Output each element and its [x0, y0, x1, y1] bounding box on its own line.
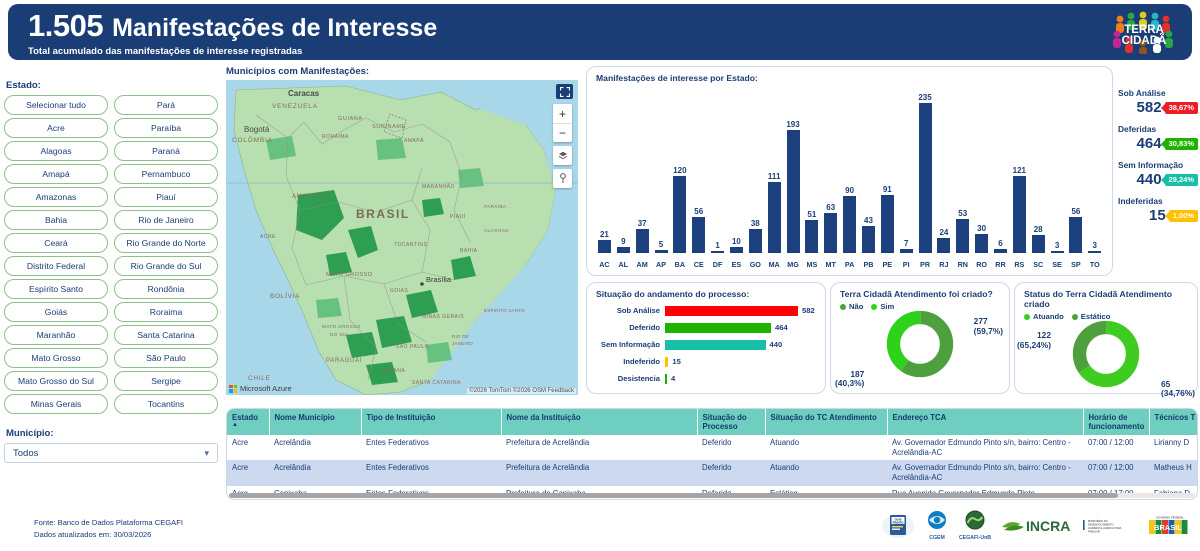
bar-category-label: MT	[821, 260, 840, 269]
kpi-percent-badge: 38,67%	[1165, 102, 1198, 114]
table-cell-endereco: Av. Governador Edmundo Pinto s/n, bairro…	[887, 460, 1083, 485]
bar-chart-bars: 2193751205611038111193516390439172352453…	[595, 91, 1104, 253]
bar-column[interactable]: 193	[784, 91, 803, 253]
state-filter-button[interactable]: Amazonas	[4, 187, 108, 207]
svg-text:AMAPÁ: AMAPÁ	[404, 137, 424, 144]
bar-rect	[655, 250, 668, 253]
tca-status-percent-atuando: 65,24%	[1020, 340, 1048, 350]
svg-text:PARAÍBA: PARAÍBA	[484, 203, 507, 209]
map-style-button[interactable]	[553, 146, 572, 165]
map-provider-logo: Microsoft Azure	[229, 384, 292, 393]
status-bar-row[interactable]: Desistencia4	[593, 371, 819, 386]
table-column-header-label: Horário de funcionamento	[1089, 413, 1145, 431]
tca-created-percent-sim: 40,3%	[838, 378, 862, 388]
table-horizontal-scrollbar[interactable]	[229, 493, 1195, 498]
bar-category-label: MS	[802, 260, 821, 269]
bar-value-label: 28	[1034, 225, 1043, 234]
filters-sidebar: Estado: Selecionar tudoParáAcreParaíbaAl…	[0, 80, 222, 480]
table-cell-instituicao: Prefeitura de Acrelândia	[501, 435, 697, 460]
bar-value-label: 9	[621, 237, 625, 246]
bar-category-label: RR	[991, 260, 1010, 269]
state-filter-button[interactable]: Pará	[114, 95, 218, 115]
svg-text:GUIANA: GUIANA	[338, 116, 363, 122]
bar-category-label: RJ	[934, 260, 953, 269]
table-cell-situacao_tc: Atuando	[765, 460, 887, 485]
map-graphic: Caracas VENEZUELA Bogotá COLÔMBIA GUIANA…	[226, 80, 578, 395]
table-column-header-label: Endereço TCA	[893, 413, 947, 422]
municipio-selected-value: Todos	[13, 448, 38, 459]
bar-category-label: RO	[972, 260, 991, 269]
expand-icon	[560, 87, 570, 97]
bar-column[interactable]: 43	[859, 91, 878, 253]
status-bar-value: 440	[770, 340, 783, 349]
map-locate-button[interactable]	[553, 169, 572, 188]
table-cell-tecnicos: Matheus H	[1149, 460, 1198, 485]
legend-dot-nao	[840, 304, 846, 310]
bar-column[interactable]: 56	[689, 91, 708, 253]
status-bar-row[interactable]: Sob Análise582	[593, 303, 819, 318]
table-column-header[interactable]: Situação do Processo	[697, 409, 765, 435]
bar-column[interactable]: 38	[746, 91, 765, 253]
tca-status-percent-estatico: 34,76%	[1164, 388, 1192, 398]
map-locate-group	[553, 169, 572, 188]
bar-rect	[1013, 176, 1026, 253]
svg-text:PARAGUAI: PARAGUAI	[326, 358, 362, 364]
municipio-filter-label: Município:	[6, 428, 218, 439]
bar-value-label: 91	[883, 185, 892, 194]
bar-column[interactable]: 30	[972, 91, 991, 253]
tca-status-donut[interactable]	[1071, 319, 1141, 389]
map-expand-button[interactable]	[556, 84, 573, 99]
bar-chart-axis: ACALAMAPBACEDFESGOMAMGMSMTPAPBPEPIPRRJRN…	[595, 260, 1104, 269]
bar-column[interactable]: 24	[934, 91, 953, 253]
bar-category-label: AP	[652, 260, 671, 269]
kpi-card: Deferidas46430,83%	[1118, 124, 1198, 152]
tca-created-donut[interactable]	[885, 309, 955, 379]
state-filter-button[interactable]: Piauí	[114, 187, 218, 207]
table-cell-horario: 07:00 / 12:00	[1083, 460, 1149, 485]
kpi-value-row: 44029,24%	[1118, 171, 1198, 188]
bar-value-label: 7	[904, 239, 908, 248]
state-filter-button[interactable]: Bahia	[4, 210, 108, 230]
bar-rect	[956, 219, 969, 253]
bar-category-label: AC	[595, 260, 614, 269]
bar-rect	[919, 103, 932, 253]
tca-status-donut-wrap: 122 (65,24%) 65 (34,76%)	[1015, 321, 1197, 393]
table-cell-instituicao: Prefeitura de Acrelândia	[501, 460, 697, 485]
table-cell-municipio: Acrelândia	[269, 435, 361, 460]
table-cell-estado: Acre	[227, 435, 269, 460]
bar-column[interactable]: 28	[1029, 91, 1048, 253]
state-filter-button[interactable]: Rio Grande do Norte	[114, 233, 218, 253]
total-count: 1.505	[28, 8, 103, 44]
kpi-card: Sob Análise58238,67%	[1118, 88, 1198, 116]
bar-category-label: MA	[765, 260, 784, 269]
tca-created-label-sim: 187 (40,3%)	[835, 370, 864, 389]
table-cell-situacao_processo: Deferido	[697, 435, 765, 460]
svg-text:GOIÁS: GOIÁS	[390, 287, 409, 294]
state-filter-button[interactable]: Maranhão	[4, 325, 108, 345]
kpi-percent-badge: 30,83%	[1165, 138, 1198, 150]
bar-category-label: DF	[708, 260, 727, 269]
footer-logo-incra: INCRA	[1000, 515, 1074, 535]
bar-column[interactable]: 10	[727, 91, 746, 253]
manifestations-table-panel[interactable]: Estado▲Nome MunicípioTipo de Instituição…	[226, 408, 1198, 500]
logo-line2: CIDADÃ	[1122, 34, 1167, 47]
status-bar-label: Sem Informação	[593, 340, 665, 349]
svg-text:DO SUL: DO SUL	[330, 332, 350, 337]
bar-value-label: 56	[694, 207, 703, 216]
svg-text:AMAZONAS: AMAZONAS	[292, 194, 330, 200]
table-cell-municipio: Acrelândia	[269, 460, 361, 485]
tca-created-donut-wrap: 277 (59,7%) 187 (40,3%)	[831, 311, 1009, 383]
bar-rect	[1069, 217, 1082, 253]
bar-column[interactable]: 120	[670, 91, 689, 253]
map-zoom-in-button[interactable]: +	[553, 104, 572, 123]
state-filter-button[interactable]: Alagoas	[4, 141, 108, 161]
map-style-group	[553, 146, 572, 165]
sort-ascending-icon[interactable]: ▲	[232, 422, 264, 428]
bar-rect	[711, 251, 724, 253]
bar-category-label: TO	[1085, 260, 1104, 269]
footer-logo-guia-rapido: Guia Rápido	[881, 511, 915, 539]
state-filter-button[interactable]: Paraná	[114, 141, 218, 161]
bar-value-label: 1	[715, 241, 719, 250]
table-column-header[interactable]: Endereço TCA	[887, 409, 1083, 435]
bar-rect	[636, 229, 649, 253]
kpi-label: Sob Análise	[1118, 88, 1198, 98]
state-filter-button[interactable]: Mato Grosso do Sul	[4, 371, 108, 391]
bar-category-label: PR	[916, 260, 935, 269]
bar-value-label: 30	[977, 224, 986, 233]
bar-column[interactable]: 90	[840, 91, 859, 253]
footer-logos: Guia Rápido CGEM CEGAFI-UnB	[881, 505, 1192, 545]
bar-rect	[1088, 251, 1101, 253]
bar-rect	[824, 213, 837, 253]
bar-column[interactable]: 121	[1010, 91, 1029, 253]
svg-text:ACRE: ACRE	[260, 234, 276, 240]
table-head: Estado▲Nome MunicípioTipo de Instituição…	[227, 409, 1198, 435]
status-bar-value: 4	[671, 374, 675, 383]
bar-rect	[673, 176, 686, 253]
bar-rect	[900, 249, 913, 253]
kpi-value-row: 46430,83%	[1118, 135, 1198, 152]
status-bar-label: Indeferido	[593, 357, 665, 366]
bar-category-label: RS	[1010, 260, 1029, 269]
legend-label-nao: Não	[849, 302, 863, 311]
status-bar-value: 464	[775, 323, 788, 332]
table-column-header[interactable]: Nome da Instituição	[501, 409, 697, 435]
tca-created-value-nao: 277	[974, 316, 988, 326]
bar-value-label: 235	[918, 93, 931, 102]
manifestations-table: Estado▲Nome MunicípioTipo de Instituição…	[227, 409, 1198, 500]
status-bar-row[interactable]: Deferido464	[593, 320, 819, 335]
state-filter-button[interactable]: Roraima	[114, 302, 218, 322]
state-filter-button[interactable]: Tocantins	[114, 394, 218, 414]
state-filter-button[interactable]: Espírito Santo	[4, 279, 108, 299]
status-bar-track: 582	[665, 306, 819, 316]
svg-text:ESPÍRITO SANTO: ESPÍRITO SANTO	[484, 308, 525, 313]
legend-label-atuando: Atuando	[1033, 312, 1064, 321]
map-zoom-out-button[interactable]: −	[553, 123, 572, 142]
svg-text:COLÔMBIA: COLÔMBIA	[232, 135, 273, 144]
table-column-header-label: Situação do Processo	[703, 413, 747, 431]
bar-column[interactable]: 111	[765, 91, 784, 253]
bar-rect	[749, 229, 762, 253]
table-header-row: Estado▲Nome MunicípioTipo de Instituição…	[227, 409, 1198, 435]
footer-logo-cegafi: CEGAFI-UnB	[959, 510, 991, 541]
kpi-label: Sem Informação	[1118, 160, 1198, 170]
bar-column[interactable]: 91	[878, 91, 897, 253]
state-filter-button[interactable]: Rio de Janeiro	[114, 210, 218, 230]
bar-rect	[994, 249, 1007, 253]
state-filter-button[interactable]: Amapá	[4, 164, 108, 184]
bar-column[interactable]: 53	[953, 91, 972, 253]
legend-dot-atuando	[1024, 314, 1030, 320]
table-cell-tecnicos: Lirianny D	[1149, 435, 1198, 460]
svg-text:ALAGOAS: ALAGOAS	[484, 228, 509, 233]
kpi-value-row: 58238,67%	[1118, 99, 1198, 116]
bar-value-label: 63	[826, 203, 835, 212]
status-bar-track: 440	[665, 340, 819, 350]
bar-value-label: 53	[958, 209, 967, 218]
table-row[interactable]: AcreAcrelândiaEntes FederativosPrefeitur…	[227, 460, 1198, 485]
bar-category-label: MG	[784, 260, 803, 269]
table-cell-situacao_tc: Atuando	[765, 435, 887, 460]
status-bar-fill	[665, 306, 798, 316]
municipio-select[interactable]: Todos ▾	[4, 443, 218, 463]
tca-created-label-nao: 277 (59,7%)	[974, 317, 1003, 336]
status-bar-row[interactable]: Sem Informação440	[593, 337, 819, 352]
kpi-list: Sob Análise58238,67%Deferidas46430,83%Se…	[1118, 88, 1198, 232]
chevron-down-icon: ▾	[204, 448, 209, 459]
page-header: 1.505 Manifestações de Interesse Total a…	[8, 4, 1192, 60]
svg-text:Bogotá: Bogotá	[244, 125, 270, 134]
locate-icon	[559, 173, 567, 184]
table-cell-situacao_processo: Deferido	[697, 460, 765, 485]
table-column-header-label: Tipo de Instituição	[367, 413, 436, 422]
status-bar-fill	[665, 340, 766, 350]
svg-text:JANEIRO: JANEIRO	[452, 341, 473, 346]
legend-dot-sim	[871, 304, 877, 310]
bar-rect	[881, 195, 894, 253]
map-controls: + −	[553, 104, 572, 188]
status-bar-value: 15	[672, 357, 680, 366]
bar-value-label: 90	[845, 186, 854, 195]
svg-text:BOLÍVIA: BOLÍVIA	[270, 291, 300, 300]
status-bar-fill	[665, 323, 771, 333]
tca-created-panel: Terra Cidadã Atendimento foi criado? Não…	[830, 282, 1010, 394]
table-body: AcreAcrelândiaEntes FederativosPrefeitur…	[227, 435, 1198, 500]
status-bar-label: Desistencia	[593, 374, 665, 383]
svg-text:MINISTÉRIO DO: MINISTÉRIO DO	[1088, 518, 1108, 523]
kpi-value: 582	[1137, 99, 1162, 116]
map-title: Municípios com Manifestações:	[226, 66, 578, 77]
bar-column[interactable]: 1	[708, 91, 727, 253]
state-filter-button[interactable]: Pernambuco	[114, 164, 218, 184]
state-filter-button[interactable]: Santa Catarina	[114, 325, 218, 345]
bar-value-label: 111	[768, 172, 780, 181]
status-bar-track: 464	[665, 323, 819, 333]
bar-value-label: 51	[807, 210, 816, 219]
bar-value-label: 21	[600, 230, 609, 239]
bar-column[interactable]: 5	[652, 91, 671, 253]
svg-text:Caracas: Caracas	[288, 89, 320, 98]
bar-column[interactable]: 9	[614, 91, 633, 253]
bar-category-label: CE	[689, 260, 708, 269]
bar-category-label: BA	[670, 260, 689, 269]
header-text-block: 1.505 Manifestações de Interesse Total a…	[8, 8, 437, 57]
table-column-header-label: Nome da Instituição	[507, 413, 581, 422]
state-filter-grid[interactable]: Selecionar tudoParáAcreParaíbaAlagoasPar…	[0, 95, 222, 414]
svg-text:Brasília: Brasília	[426, 275, 452, 284]
tca-created-percent-nao: 59,7%	[976, 326, 1000, 336]
guia-rapido-icon: Guia Rápido	[881, 511, 915, 539]
bar-column[interactable]: 56	[1066, 91, 1085, 253]
bar-category-label: PB	[859, 260, 878, 269]
bar-column[interactable]: 6	[991, 91, 1010, 253]
bar-rect	[768, 182, 781, 253]
bar-chart-panel: Manifestações de interesse por Estado: 2…	[586, 66, 1113, 276]
state-filter-button[interactable]: Acre	[4, 118, 108, 138]
state-filter-label: Estado:	[6, 80, 222, 91]
bar-column[interactable]: 235	[916, 91, 935, 253]
bar-column[interactable]: 3	[1085, 91, 1104, 253]
bar-value-label: 121	[1013, 166, 1026, 175]
bar-category-label: SP	[1066, 260, 1085, 269]
state-filter-button[interactable]: Goiás	[4, 302, 108, 322]
map-attribution[interactable]: ©2026 TomTom ©2026 OSM Feedback	[467, 388, 576, 394]
cegafi-icon	[962, 510, 988, 534]
footer-logo-cegafi-caption: CEGAFI-UnB	[959, 535, 991, 541]
logo-icon: TERRA CIDADÃ	[1107, 10, 1181, 54]
brasil-gov-icon: GOVERNO FEDERAL BRASIL	[1148, 514, 1192, 536]
map-zoom-group: + −	[553, 104, 572, 142]
bar-value-label: 3	[1055, 241, 1059, 250]
status-bar-row[interactable]: Indeferido15	[593, 354, 819, 369]
bar-column[interactable]: 37	[633, 91, 652, 253]
svg-text:GOVERNO FEDERAL: GOVERNO FEDERAL	[1156, 516, 1184, 520]
svg-text:BRASIL: BRASIL	[1154, 523, 1182, 532]
bar-value-label: 56	[1071, 207, 1080, 216]
dashboard-page: 1.505 Manifestações de Interesse Total a…	[0, 0, 1200, 551]
map-provider-name: Microsoft Azure	[240, 384, 292, 393]
table-column-header-label: Nome Município	[275, 413, 335, 422]
state-filter-button[interactable]: Paraíba	[114, 118, 218, 138]
table-column-header[interactable]: Estado▲	[227, 409, 269, 435]
status-bar-track: 15	[665, 357, 819, 367]
page-title: 1.505 Manifestações de Interesse	[28, 8, 437, 44]
svg-text:MATO GROSSO: MATO GROSSO	[326, 272, 373, 278]
kpi-label: Indeferidas	[1118, 196, 1198, 206]
table-column-header-label: Estado	[232, 413, 258, 422]
process-status-bars: Sob Análise582Deferido464Sem Informação4…	[587, 299, 825, 386]
bar-category-label: PA	[840, 260, 859, 269]
incra-icon: INCRA	[1000, 515, 1074, 535]
footer-updated: Dados atualizados em: 30/03/2026	[34, 529, 183, 541]
table-column-header[interactable]: Horário de funcionamento	[1083, 409, 1149, 435]
svg-text:SÃO PAULO: SÃO PAULO	[396, 343, 429, 350]
kpi-card: Indeferidas151,00%	[1118, 196, 1198, 224]
footer-logo-cgem: CGEM	[924, 510, 950, 541]
bar-column[interactable]: 51	[802, 91, 821, 253]
bar-rect	[1051, 251, 1064, 253]
state-filter-button[interactable]: São Paulo	[114, 348, 218, 368]
bar-value-label: 10	[732, 237, 741, 246]
state-filter-button[interactable]: Sergipe	[114, 371, 218, 391]
svg-text:BRASIL: BRASIL	[356, 207, 410, 221]
tca-status-title: Status do Terra Cidadã Atendimento criad…	[1015, 283, 1197, 309]
svg-text:RIO DE: RIO DE	[452, 334, 469, 339]
legend-item-atuando[interactable]: Atuando	[1024, 312, 1064, 321]
svg-text:FAMILIAR: FAMILIAR	[1088, 530, 1100, 534]
bar-column[interactable]: 21	[595, 91, 614, 253]
status-bar-value: 582	[802, 306, 815, 315]
bar-category-label: GO	[746, 260, 765, 269]
svg-text:SANTA CATARINA: SANTA CATARINA	[412, 380, 461, 386]
page-subtitle: Total acumulado das manifestações de int…	[28, 46, 437, 57]
bar-rect	[805, 220, 818, 253]
table-column-header[interactable]: Tipo de Instituição	[361, 409, 501, 435]
svg-text:VENEZUELA: VENEZUELA	[272, 103, 318, 110]
map-panel: Municípios com Manifestações:	[226, 66, 578, 398]
map-canvas[interactable]: Caracas VENEZUELA Bogotá COLÔMBIA GUIANA…	[226, 80, 578, 395]
tca-status-label-atuando: 122 (65,24%)	[1017, 331, 1051, 350]
svg-text:CHILE: CHILE	[248, 375, 271, 382]
tca-status-label-estatico: 65 (34,76%)	[1161, 380, 1195, 399]
kpi-percent-badge: 29,24%	[1165, 174, 1198, 186]
footer-logo-cgem-caption: CGEM	[929, 535, 945, 541]
table-column-header[interactable]: Situação do TC Atendimento	[765, 409, 887, 435]
svg-text:SURINAME: SURINAME	[372, 124, 406, 130]
bar-rect	[730, 247, 743, 253]
status-bar-track: 4	[665, 374, 819, 384]
bar-rect	[975, 234, 988, 253]
status-bar-fill	[665, 357, 668, 367]
bar-column[interactable]: 7	[897, 91, 916, 253]
microsoft-icon	[229, 385, 237, 393]
terra-cidada-logo: TERRA CIDADÃ	[1106, 9, 1182, 55]
table-cell-tipo: Entes Federativos	[361, 435, 501, 460]
state-filter-button[interactable]: Distrito Federal	[4, 256, 108, 276]
legend-item-nao[interactable]: Não	[840, 302, 863, 311]
state-filter-button[interactable]: Ceará	[4, 233, 108, 253]
table-row[interactable]: AcreAcrelândiaEntes FederativosPrefeitur…	[227, 435, 1198, 460]
svg-text:TOCANTINS: TOCANTINS	[394, 242, 427, 248]
svg-text:MARANHÃO: MARANHÃO	[422, 183, 455, 190]
bar-value-label: 37	[638, 219, 647, 228]
svg-text:PIAUÍ: PIAUÍ	[450, 213, 466, 220]
bar-column[interactable]: 63	[821, 91, 840, 253]
state-filter-button[interactable]: Rondônia	[114, 279, 218, 299]
kpi-percent-badge: 1,00%	[1169, 210, 1198, 222]
table-cell-endereco: Av. Governador Edmundo Pinto s/n, bairro…	[887, 435, 1083, 460]
table-column-header[interactable]: Nome Município	[269, 409, 361, 435]
kpi-value: 15	[1149, 207, 1166, 224]
tca-status-value-atuando: 122	[1037, 330, 1051, 340]
bar-column[interactable]: 3	[1048, 91, 1067, 253]
state-filter-button[interactable]: Minas Gerais	[4, 394, 108, 414]
kpi-value: 440	[1137, 171, 1162, 188]
table-column-header[interactable]: Técnicos T	[1149, 409, 1198, 435]
bar-rect	[598, 240, 611, 253]
state-filter-button[interactable]: Rio Grande do Sul	[114, 256, 218, 276]
state-filter-button[interactable]: Selecionar tudo	[4, 95, 108, 115]
table-cell-horario: 07:00 / 12:00	[1083, 435, 1149, 460]
bar-value-label: 120	[673, 166, 686, 175]
cgem-icon	[924, 510, 950, 534]
state-filter-button[interactable]: Mato Grosso	[4, 348, 108, 368]
